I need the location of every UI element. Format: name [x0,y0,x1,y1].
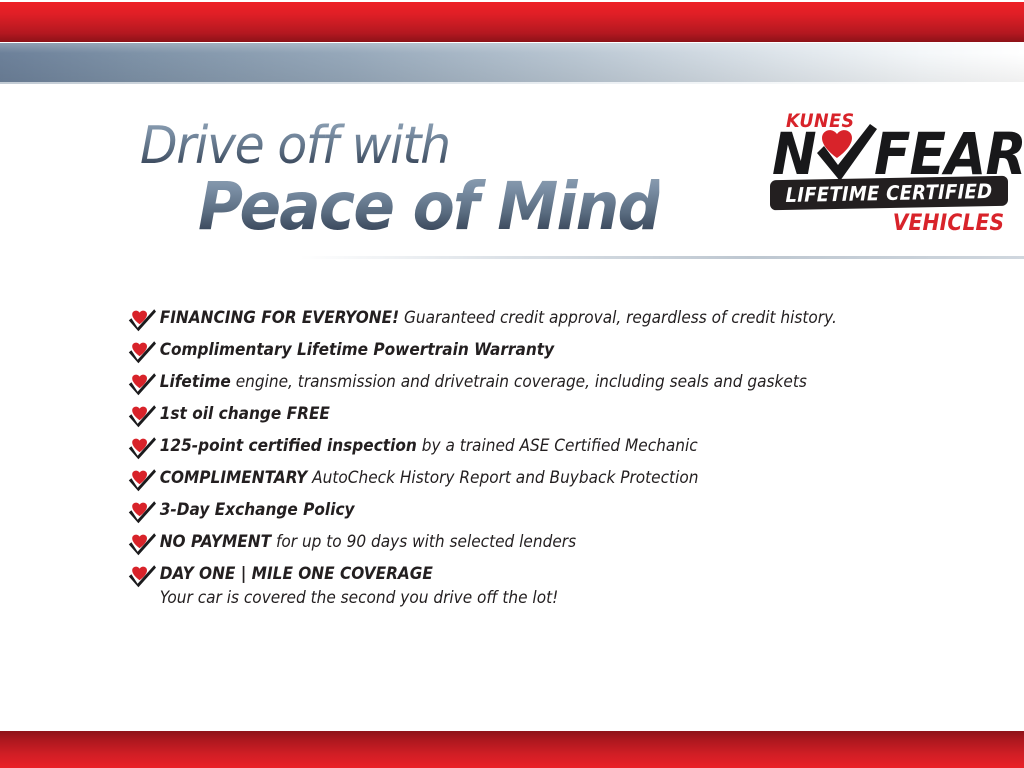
benefit-headline: NO PAYMENT [160,532,271,551]
header: Drive off with Peace of Mind KUNES N FEA… [0,96,1024,262]
heart-check-icon [128,340,156,364]
benefit-body: Complimentary Lifetime Powertrain Warran… [156,338,584,361]
benefits-list: FINANCING FOR EVERYONE! Guaranteed credi… [128,306,964,610]
bottom-gray-band [0,707,1024,731]
benefit-text: COMPLIMENTARY AutoCheck History Report a… [156,466,698,489]
heart-check-icon [128,308,156,332]
header-divider [300,256,1024,259]
logo-word-vehicles: VEHICLES [892,211,1004,236]
benefit-body: 3-Day Exchange Policy [156,498,370,521]
top-gray-band [0,43,1024,82]
benefit-body: Lifetime engine, transmission and drivet… [156,370,856,393]
benefit-detail: by a trained ASE Certified Mechanic [417,436,698,455]
benefit-headline: 125-point certified inspection [160,436,417,455]
benefit-item: COMPLIMENTARY AutoCheck History Report a… [128,466,964,498]
benefit-item: DAY ONE | MILE ONE COVERAGEYour car is c… [128,562,964,610]
benefit-headline: 1st oil change FREE [160,404,330,423]
benefit-subtext: Your car is covered the second you drive… [156,586,558,610]
benefit-text: 125-point certified inspection by a trai… [156,434,698,457]
logo-lifetime-certified-bar: LIFETIME CERTIFIED [770,176,1008,211]
benefit-text: DAY ONE | MILE ONE COVERAGE [156,562,558,585]
heart-check-icon [128,372,156,396]
benefit-detail: AutoCheck History Report and Buyback Pro… [307,468,698,487]
benefit-item: Lifetime engine, transmission and drivet… [128,370,964,402]
benefit-body: COMPLIMENTARY AutoCheck History Report a… [156,466,739,489]
page-title: Drive off with Peace of Mind [140,120,694,240]
benefit-headline: COMPLIMENTARY [160,468,308,487]
benefit-text: NO PAYMENT for up to 90 days with select… [156,530,576,553]
bottom-red-band [0,731,1024,768]
kunes-no-fear-logo: KUNES N FEAR LIFETIME CERTIFIED VEHICLES [764,106,1010,246]
benefit-item: FINANCING FOR EVERYONE! Guaranteed credi… [128,306,964,338]
benefit-item: 3-Day Exchange Policy [128,498,964,530]
benefit-item: 125-point certified inspection by a trai… [128,434,964,466]
benefit-text: Lifetime engine, transmission and drivet… [156,370,807,393]
benefit-detail: engine, transmission and drivetrain cove… [231,372,807,391]
benefit-body: NO PAYMENT for up to 90 days with select… [156,530,608,553]
heart-check-mark-icon [808,124,878,186]
heart-check-icon [128,564,156,588]
heart-check-icon [128,404,156,428]
logo-bar-label: LIFETIME CERTIFIED [786,179,993,207]
benefit-item: 1st oil change FREE [128,402,964,434]
benefit-headline: DAY ONE | MILE ONE COVERAGE [160,564,433,583]
benefit-body: 125-point certified inspection by a trai… [156,434,738,457]
heart-check-icon [128,436,156,460]
benefit-headline: Lifetime [160,372,231,391]
benefit-text: 3-Day Exchange Policy [156,498,355,521]
heart-check-icon [128,500,156,524]
logo-word-fear: FEAR [874,125,1024,183]
benefit-headline: FINANCING FOR EVERYONE! [160,308,399,327]
top-red-band [0,2,1024,42]
benefit-item: NO PAYMENT for up to 90 days with select… [128,530,964,562]
benefit-detail: Guaranteed credit approval, regardless o… [399,308,837,327]
promo-banner: Drive off with Peace of Mind KUNES N FEA… [0,0,1024,768]
benefit-text: FINANCING FOR EVERYONE! Guaranteed credi… [156,306,837,329]
benefit-body: FINANCING FOR EVERYONE! Guaranteed credi… [156,306,888,329]
benefit-body: DAY ONE | MILE ONE COVERAGEYour car is c… [156,562,589,610]
benefit-headline: Complimentary Lifetime Powertrain Warran… [160,340,554,359]
heart-check-icon [128,468,156,492]
benefit-text: Complimentary Lifetime Powertrain Warran… [156,338,554,361]
headline-line-2: Peace of Mind [198,174,660,240]
heart-check-icon [128,532,156,556]
benefit-headline: 3-Day Exchange Policy [160,500,355,519]
benefit-detail: for up to 90 days with selected lenders [271,532,576,551]
benefit-text: 1st oil change FREE [156,402,330,425]
headline-line-1: Drive off with [140,120,661,172]
benefit-item: Complimentary Lifetime Powertrain Warran… [128,338,964,370]
benefit-body: 1st oil change FREE [156,402,343,425]
